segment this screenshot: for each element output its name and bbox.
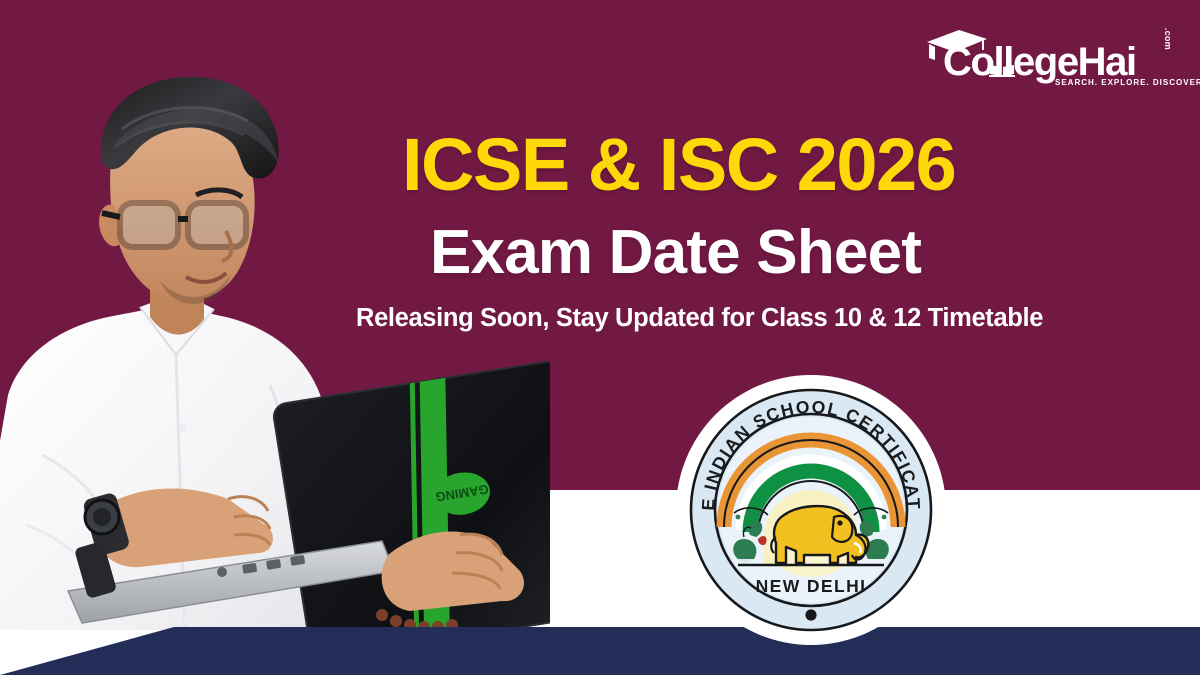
headline-primary: ICSE & ISC 2026 xyxy=(402,128,1092,202)
headline-subtitle: Releasing Soon, Stay Updated for Class 1… xyxy=(356,306,1043,332)
logo-wordmark: CollegeHai xyxy=(943,42,1136,82)
logo-domain-suffix: .com xyxy=(1163,28,1173,50)
promo-banner: GAMING xyxy=(0,0,1200,675)
open-book-icon xyxy=(989,61,1015,77)
cisce-emblem: COUNCIL FOR THE INDIAN SCHOOL CERTIFICAT… xyxy=(676,375,946,645)
emblem-graphic: COUNCIL FOR THE INDIAN SCHOOL CERTIFICAT… xyxy=(688,387,934,633)
emblem-city-text: NEW DELHI xyxy=(756,576,867,596)
collegehai-logo[interactable]: CollegeHai .com SEARCH. EXPLORE. DISCOVE… xyxy=(925,28,1175,90)
navy-bottom-bar xyxy=(0,627,1200,675)
logo-tagline: SEARCH. EXPLORE. DISCOVER. xyxy=(1055,78,1200,87)
headline-secondary: Exam Date Sheet xyxy=(430,222,921,284)
